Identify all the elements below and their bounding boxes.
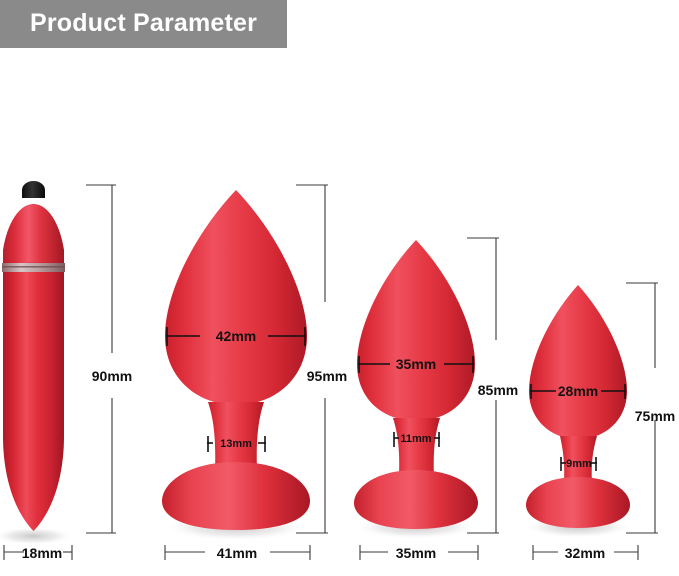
plug-medium-base-label: 35mm	[396, 545, 436, 561]
product-diagram: 90mm 18mm 42mm	[0, 0, 679, 576]
plug-small-base-label: 32mm	[565, 545, 605, 561]
plug-large-neck-label: 13mm	[220, 438, 252, 450]
plug-small-neck-label: 9mm	[566, 458, 592, 470]
bullet-width-label: 18mm	[22, 545, 62, 561]
plug-large-height-label: 95mm	[307, 368, 347, 384]
product-plug-small	[524, 285, 632, 538]
dimension-bullet-width: 18mm	[4, 545, 72, 561]
plug-small-width-label: 28mm	[558, 383, 598, 399]
dimension-plug-medium-height: 85mm	[467, 238, 518, 533]
plug-large-bulb	[165, 190, 307, 405]
bullet-cap-icon	[22, 181, 45, 198]
product-parameter-page: Product Parameter	[0, 0, 679, 576]
dimension-plug-medium-base: 35mm	[360, 545, 478, 561]
dimension-plug-small-base: 32mm	[533, 545, 638, 561]
plug-large-neck	[208, 402, 264, 470]
dimension-plug-small-neck: 9mm	[561, 457, 597, 471]
plug-medium-neck-label: 11mm	[400, 433, 431, 445]
dimension-plug-large-base: 41mm	[165, 545, 310, 561]
plug-medium-height-label: 85mm	[478, 382, 518, 398]
plug-large-base	[162, 462, 310, 530]
plug-small-height-label: 75mm	[635, 408, 675, 424]
product-bullet-vibrator	[0, 181, 73, 545]
plug-medium-base	[354, 470, 478, 529]
bullet-height-label: 90mm	[92, 368, 132, 384]
plug-medium-width-label: 35mm	[396, 356, 436, 372]
bullet-dome	[3, 205, 64, 262]
product-plug-large	[162, 190, 310, 541]
plug-large-base-label: 41mm	[217, 545, 257, 561]
product-plug-medium	[354, 240, 478, 539]
plug-large-width-label: 42mm	[216, 328, 256, 344]
plug-small-bulb	[529, 285, 627, 439]
dimension-plug-large-height: 95mm	[296, 185, 347, 533]
plug-medium-bulb	[357, 240, 475, 421]
plug-medium-neck	[393, 418, 440, 477]
bullet-shadow	[0, 527, 73, 545]
dimension-plug-small-height: 75mm	[626, 283, 675, 533]
bullet-band-line	[2, 266, 65, 268]
plug-small-base	[526, 477, 630, 528]
dimension-bullet-height: 90mm	[86, 185, 132, 533]
